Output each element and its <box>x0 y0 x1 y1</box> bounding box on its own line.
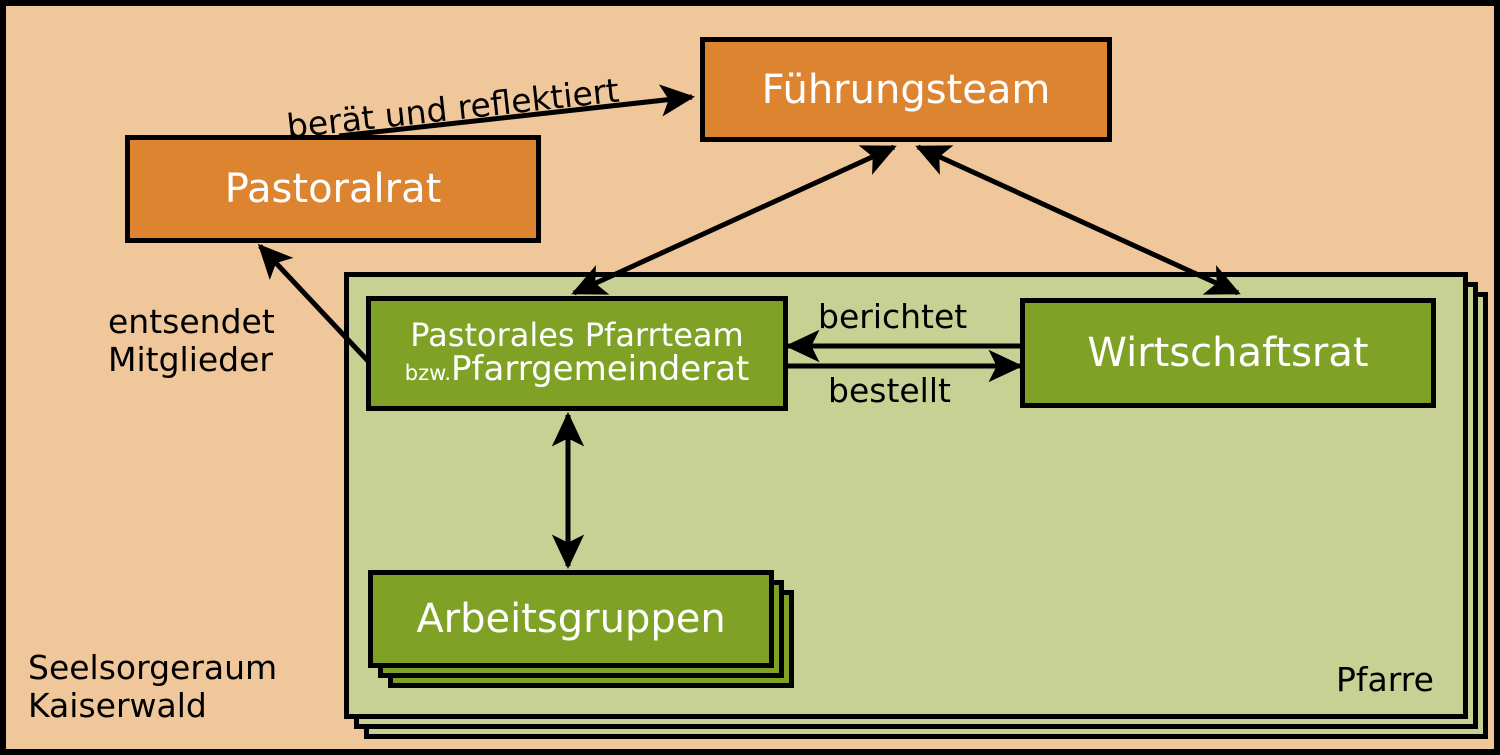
node-wirtschaftsrat-label: Wirtschaftsrat <box>1087 332 1368 374</box>
node-fuehrungsteam[interactable]: Führungsteam <box>700 37 1112 142</box>
edge-label-bestellt: bestellt <box>828 372 951 410</box>
seelsorgeraum-label: Seelsorgeraum Kaiserwald <box>28 649 277 725</box>
node-pastoralrat[interactable]: Pastoralrat <box>125 135 541 243</box>
node-wirtschaftsrat[interactable]: Wirtschaftsrat <box>1020 298 1436 408</box>
node-pfarrteam-label-main: Pfarrgemeinderat <box>451 349 749 389</box>
node-pastoralrat-label: Pastoralrat <box>225 168 442 210</box>
node-pfarrteam-label-line2: bzw.Pfarrgemeinderat <box>405 352 750 388</box>
edge-label-entsendet-mitglieder: entsendet Mitglieder <box>108 303 275 379</box>
node-arbeitsgruppen[interactable]: Arbeitsgruppen <box>368 570 774 668</box>
diagram-canvas: Pfarre Führungsteam Pastoralrat Pasto <box>0 0 1500 755</box>
node-pfarrteam-label-bzw: bzw. <box>405 361 451 385</box>
pfarre-container-label: Pfarre <box>1336 661 1434 699</box>
node-pfarrteam-label-line1: Pastorales Pfarrteam <box>410 319 743 353</box>
node-fuehrungsteam-label: Führungsteam <box>762 69 1051 111</box>
node-pfarrteam[interactable]: Pastorales Pfarrteam bzw.Pfarrgemeindera… <box>366 296 788 411</box>
node-arbeitsgruppen-label: Arbeitsgruppen <box>416 598 725 640</box>
edge-label-berichtet: berichtet <box>818 298 967 336</box>
